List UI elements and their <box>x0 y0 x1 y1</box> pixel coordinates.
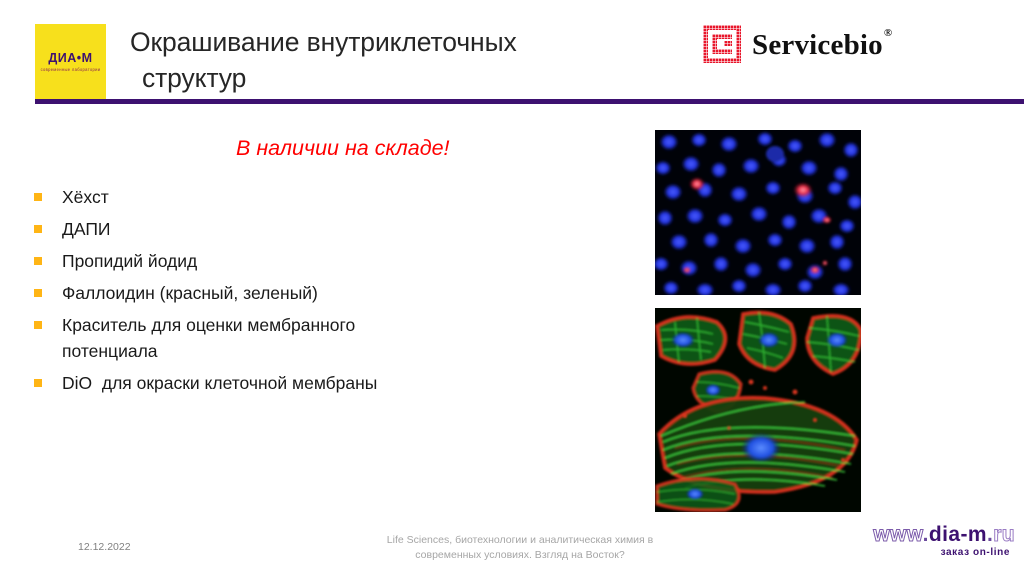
url-www: www <box>873 523 922 546</box>
list-item-label: Краситель для оценки мембранного потенци… <box>62 313 355 364</box>
dia-m-website-logo[interactable]: www.dia-m.ru заказ on-line <box>855 524 1015 558</box>
micrograph-cytoskeleton-graphic <box>655 308 861 512</box>
bullet-square-icon <box>34 321 42 329</box>
list-item-label: Хёхст <box>62 185 109 211</box>
bullet-square-icon <box>34 379 42 387</box>
servicebio-logo[interactable]: Servicebio® <box>703 25 891 63</box>
list-item: Пропидий йодид <box>34 249 594 275</box>
bullet-square-icon <box>34 289 42 297</box>
footer-event-title: Life Sciences, биотехнологии и аналитиче… <box>330 533 710 563</box>
servicebio-wordmark: Servicebio® <box>752 31 891 60</box>
micrograph-nuclei <box>655 130 861 295</box>
bullet-square-icon <box>34 193 42 201</box>
registered-trademark-icon: ® <box>884 27 892 39</box>
in-stock-note: В наличии на складе! <box>236 136 450 161</box>
dia-m-order-online-tagline: заказ on-line <box>855 547 1015 558</box>
product-list: Хёхст ДАПИ Пропидий йодид Фаллоидин (кра… <box>34 185 594 403</box>
list-item-label: Пропидий йодид <box>62 249 197 275</box>
bullet-square-icon <box>34 225 42 233</box>
list-item: Хёхст <box>34 185 594 211</box>
url-domain: dia-m <box>929 523 987 546</box>
footer-date: 12.12.2022 <box>78 541 131 553</box>
list-item: Фаллоидин (красный, зеленый) <box>34 281 594 307</box>
url-tld: ru <box>993 523 1015 546</box>
micrograph-cytoskeleton <box>655 308 861 512</box>
footer-event-line2: современных условиях. Взгляд на Восток? <box>330 548 710 563</box>
list-item-label: Фаллоидин (красный, зеленый) <box>62 281 318 307</box>
diam-logo-tagline: современные лаборатории <box>41 68 101 72</box>
list-item: Краситель для оценки мембранного потенци… <box>34 313 594 364</box>
footer-event-line1: Life Sciences, биотехнологии и аналитиче… <box>330 533 710 548</box>
diam-logo-name: ДИА•М <box>48 52 92 65</box>
slide: ДИА•М современные лаборатории Окрашивани… <box>0 0 1024 576</box>
servicebio-g-mark-icon <box>703 25 741 63</box>
dia-m-website-url: www.dia-m.ru <box>855 524 1015 546</box>
list-item-label: ДАПИ <box>62 217 110 243</box>
header-divider <box>35 99 1024 104</box>
page-title-line2: структур <box>130 60 650 96</box>
page-title-line1: Окрашивание внутриклеточных <box>130 27 517 57</box>
list-item: ДАПИ <box>34 217 594 243</box>
list-item-label: DiO для окраски клеточной мембраны <box>62 371 377 397</box>
micrograph-nuclei-graphic <box>655 130 861 295</box>
page-title: Окрашивание внутриклеточных структур <box>130 24 650 96</box>
servicebio-word-text: Servicebio <box>752 29 883 61</box>
diam-logo[interactable]: ДИА•М современные лаборатории <box>35 24 106 100</box>
bullet-square-icon <box>34 257 42 265</box>
list-item: DiO для окраски клеточной мембраны <box>34 371 594 397</box>
